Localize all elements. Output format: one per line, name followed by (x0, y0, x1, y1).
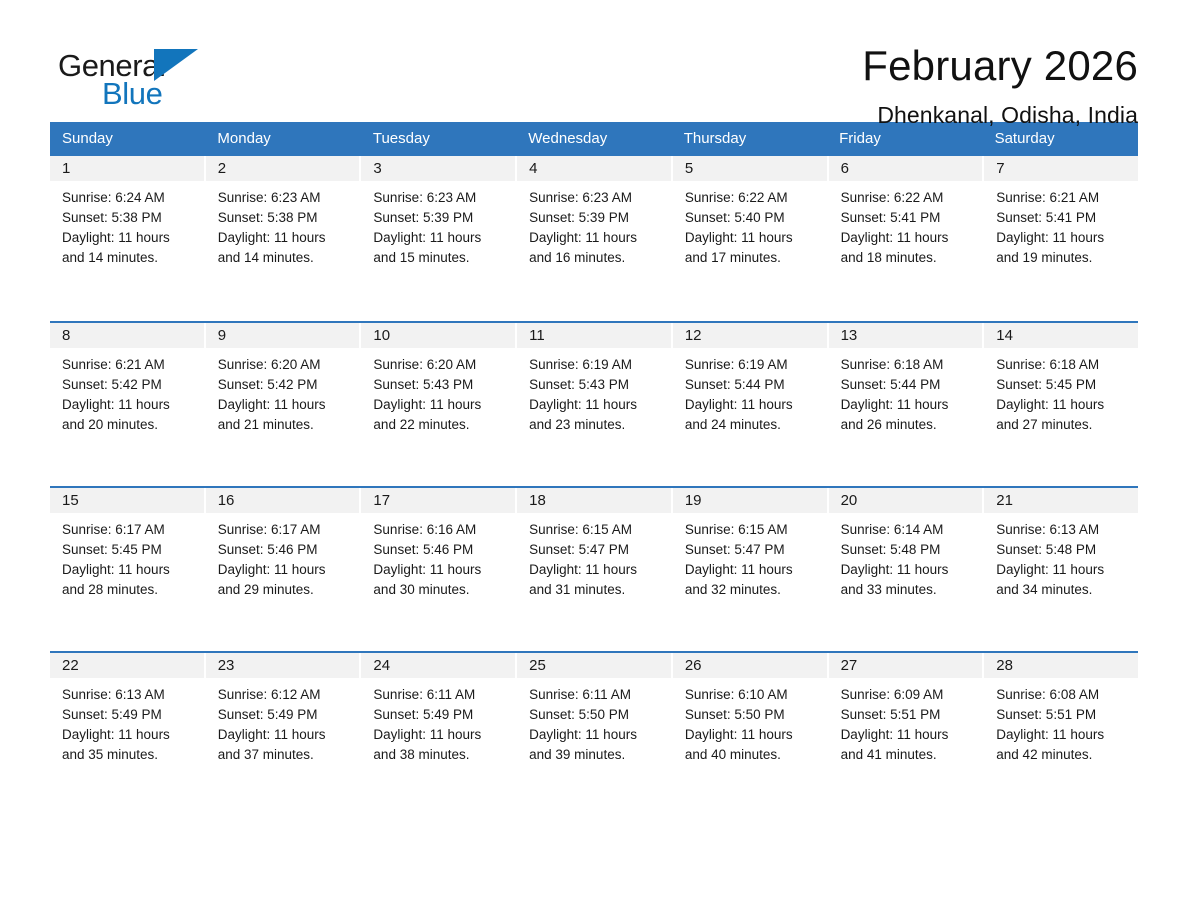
day-cell[interactable]: 23 Sunrise: 6:12 AM Sunset: 5:49 PM Dayl… (206, 653, 360, 815)
daylight-text: Daylight: 11 hours and 19 minutes. (996, 228, 1128, 268)
day-number: 27 (829, 653, 983, 678)
day-number: 25 (517, 653, 671, 678)
sunset-text: Sunset: 5:45 PM (996, 375, 1128, 395)
week-row: 8 Sunrise: 6:21 AM Sunset: 5:42 PM Dayli… (50, 321, 1138, 485)
sunset-text: Sunset: 5:51 PM (996, 705, 1128, 725)
day-cell[interactable]: 14 Sunrise: 6:18 AM Sunset: 5:45 PM Dayl… (984, 323, 1138, 485)
sunrise-text: Sunrise: 6:14 AM (841, 520, 973, 540)
day-number: 1 (50, 156, 204, 181)
daylight-text: Daylight: 11 hours and 14 minutes. (218, 228, 350, 268)
sunrise-text: Sunrise: 6:19 AM (685, 355, 817, 375)
daylight-text: Daylight: 11 hours and 26 minutes. (841, 395, 973, 435)
weekday-header-sunday: Sunday (50, 122, 205, 156)
day-number: 26 (673, 653, 827, 678)
sunrise-text: Sunrise: 6:19 AM (529, 355, 661, 375)
day-cell[interactable]: 1 Sunrise: 6:24 AM Sunset: 5:38 PM Dayli… (50, 156, 204, 320)
sunset-text: Sunset: 5:45 PM (62, 540, 194, 560)
day-number: 28 (984, 653, 1138, 678)
day-details: Sunrise: 6:14 AM Sunset: 5:48 PM Dayligh… (829, 513, 983, 600)
day-number: 17 (361, 488, 515, 513)
sunrise-text: Sunrise: 6:17 AM (218, 520, 350, 540)
sunset-text: Sunset: 5:42 PM (218, 375, 350, 395)
sunrise-text: Sunrise: 6:22 AM (841, 188, 973, 208)
sunrise-text: Sunrise: 6:10 AM (685, 685, 817, 705)
day-details: Sunrise: 6:13 AM Sunset: 5:49 PM Dayligh… (50, 678, 204, 765)
general-blue-logo[interactable]: General Blue (50, 42, 210, 112)
day-number: 21 (984, 488, 1138, 513)
day-number: 11 (517, 323, 671, 348)
logo-text-blue: Blue (102, 78, 162, 109)
daylight-text: Daylight: 11 hours and 20 minutes. (62, 395, 194, 435)
daylight-text: Daylight: 11 hours and 15 minutes. (373, 228, 505, 268)
daylight-text: Daylight: 11 hours and 21 minutes. (218, 395, 350, 435)
daylight-text: Daylight: 11 hours and 35 minutes. (62, 725, 194, 765)
sunset-text: Sunset: 5:38 PM (218, 208, 350, 228)
day-details: Sunrise: 6:20 AM Sunset: 5:43 PM Dayligh… (361, 348, 515, 435)
day-details: Sunrise: 6:23 AM Sunset: 5:39 PM Dayligh… (361, 181, 515, 268)
daylight-text: Daylight: 11 hours and 31 minutes. (529, 560, 661, 600)
daylight-text: Daylight: 11 hours and 14 minutes. (62, 228, 194, 268)
daylight-text: Daylight: 11 hours and 37 minutes. (218, 725, 350, 765)
day-cell[interactable]: 6 Sunrise: 6:22 AM Sunset: 5:41 PM Dayli… (829, 156, 983, 320)
sunset-text: Sunset: 5:51 PM (841, 705, 973, 725)
day-number: 12 (673, 323, 827, 348)
day-cell[interactable]: 5 Sunrise: 6:22 AM Sunset: 5:40 PM Dayli… (673, 156, 827, 320)
daylight-text: Daylight: 11 hours and 16 minutes. (529, 228, 661, 268)
sunset-text: Sunset: 5:39 PM (373, 208, 505, 228)
sunset-text: Sunset: 5:46 PM (218, 540, 350, 560)
day-cell[interactable]: 10 Sunrise: 6:20 AM Sunset: 5:43 PM Dayl… (361, 323, 515, 485)
sunset-text: Sunset: 5:46 PM (373, 540, 505, 560)
sunrise-text: Sunrise: 6:23 AM (218, 188, 350, 208)
sunset-text: Sunset: 5:44 PM (841, 375, 973, 395)
sunset-text: Sunset: 5:49 PM (373, 705, 505, 725)
sunset-text: Sunset: 5:49 PM (62, 705, 194, 725)
daylight-text: Daylight: 11 hours and 23 minutes. (529, 395, 661, 435)
sunset-text: Sunset: 5:48 PM (996, 540, 1128, 560)
weekday-header-thursday: Thursday (672, 122, 827, 156)
day-details: Sunrise: 6:11 AM Sunset: 5:49 PM Dayligh… (361, 678, 515, 765)
sunset-text: Sunset: 5:43 PM (529, 375, 661, 395)
day-cell[interactable]: 13 Sunrise: 6:18 AM Sunset: 5:44 PM Dayl… (829, 323, 983, 485)
sunrise-text: Sunrise: 6:11 AM (529, 685, 661, 705)
sunrise-text: Sunrise: 6:18 AM (996, 355, 1128, 375)
day-number: 13 (829, 323, 983, 348)
day-details: Sunrise: 6:21 AM Sunset: 5:42 PM Dayligh… (50, 348, 204, 435)
day-details: Sunrise: 6:15 AM Sunset: 5:47 PM Dayligh… (517, 513, 671, 600)
weekday-header-friday: Friday (827, 122, 982, 156)
day-number: 14 (984, 323, 1138, 348)
day-number: 23 (206, 653, 360, 678)
daylight-text: Daylight: 11 hours and 28 minutes. (62, 560, 194, 600)
day-cell[interactable]: 11 Sunrise: 6:19 AM Sunset: 5:43 PM Dayl… (517, 323, 671, 485)
day-cell[interactable]: 3 Sunrise: 6:23 AM Sunset: 5:39 PM Dayli… (361, 156, 515, 320)
sunrise-text: Sunrise: 6:16 AM (373, 520, 505, 540)
daylight-text: Daylight: 11 hours and 27 minutes. (996, 395, 1128, 435)
day-number: 8 (50, 323, 204, 348)
sunrise-text: Sunrise: 6:08 AM (996, 685, 1128, 705)
day-cell[interactable]: 26 Sunrise: 6:10 AM Sunset: 5:50 PM Dayl… (673, 653, 827, 815)
sunset-text: Sunset: 5:41 PM (841, 208, 973, 228)
day-cell[interactable]: 22 Sunrise: 6:13 AM Sunset: 5:49 PM Dayl… (50, 653, 204, 815)
sunrise-text: Sunrise: 6:15 AM (529, 520, 661, 540)
daylight-text: Daylight: 11 hours and 24 minutes. (685, 395, 817, 435)
week-row: 22 Sunrise: 6:13 AM Sunset: 5:49 PM Dayl… (50, 651, 1138, 815)
day-details: Sunrise: 6:18 AM Sunset: 5:44 PM Dayligh… (829, 348, 983, 435)
daylight-text: Daylight: 11 hours and 30 minutes. (373, 560, 505, 600)
calendar-grid: Sunday Monday Tuesday Wednesday Thursday… (50, 122, 1138, 815)
daylight-text: Daylight: 11 hours and 40 minutes. (685, 725, 817, 765)
day-details: Sunrise: 6:23 AM Sunset: 5:38 PM Dayligh… (206, 181, 360, 268)
daylight-text: Daylight: 11 hours and 34 minutes. (996, 560, 1128, 600)
day-cell[interactable]: 17 Sunrise: 6:16 AM Sunset: 5:46 PM Dayl… (361, 488, 515, 650)
sunrise-text: Sunrise: 6:21 AM (62, 355, 194, 375)
sunset-text: Sunset: 5:40 PM (685, 208, 817, 228)
weekday-header-monday: Monday (205, 122, 360, 156)
day-number: 18 (517, 488, 671, 513)
weekday-header-saturday: Saturday (983, 122, 1138, 156)
day-details: Sunrise: 6:09 AM Sunset: 5:51 PM Dayligh… (829, 678, 983, 765)
daylight-text: Daylight: 11 hours and 22 minutes. (373, 395, 505, 435)
title-block: February 2026 Dhenkanal, Odisha, India (862, 42, 1138, 129)
day-number: 6 (829, 156, 983, 181)
daylight-text: Daylight: 11 hours and 33 minutes. (841, 560, 973, 600)
day-cell[interactable]: 8 Sunrise: 6:21 AM Sunset: 5:42 PM Dayli… (50, 323, 204, 485)
day-number: 7 (984, 156, 1138, 181)
day-details: Sunrise: 6:21 AM Sunset: 5:41 PM Dayligh… (984, 181, 1138, 268)
day-details: Sunrise: 6:16 AM Sunset: 5:46 PM Dayligh… (361, 513, 515, 600)
day-details: Sunrise: 6:08 AM Sunset: 5:51 PM Dayligh… (984, 678, 1138, 765)
day-number: 2 (206, 156, 360, 181)
day-details: Sunrise: 6:11 AM Sunset: 5:50 PM Dayligh… (517, 678, 671, 765)
day-cell[interactable]: 12 Sunrise: 6:19 AM Sunset: 5:44 PM Dayl… (673, 323, 827, 485)
day-cell[interactable]: 25 Sunrise: 6:11 AM Sunset: 5:50 PM Dayl… (517, 653, 671, 815)
sunrise-text: Sunrise: 6:21 AM (996, 188, 1128, 208)
day-cell[interactable]: 9 Sunrise: 6:20 AM Sunset: 5:42 PM Dayli… (206, 323, 360, 485)
day-details: Sunrise: 6:20 AM Sunset: 5:42 PM Dayligh… (206, 348, 360, 435)
day-details: Sunrise: 6:17 AM Sunset: 5:45 PM Dayligh… (50, 513, 204, 600)
day-cell[interactable]: 16 Sunrise: 6:17 AM Sunset: 5:46 PM Dayl… (206, 488, 360, 650)
daylight-text: Daylight: 11 hours and 38 minutes. (373, 725, 505, 765)
sunset-text: Sunset: 5:38 PM (62, 208, 194, 228)
day-details: Sunrise: 6:12 AM Sunset: 5:49 PM Dayligh… (206, 678, 360, 765)
sunrise-text: Sunrise: 6:15 AM (685, 520, 817, 540)
sunset-text: Sunset: 5:49 PM (218, 705, 350, 725)
daylight-text: Daylight: 11 hours and 32 minutes. (685, 560, 817, 600)
sunset-text: Sunset: 5:43 PM (373, 375, 505, 395)
sunrise-text: Sunrise: 6:18 AM (841, 355, 973, 375)
day-cell[interactable]: 7 Sunrise: 6:21 AM Sunset: 5:41 PM Dayli… (984, 156, 1138, 320)
sunset-text: Sunset: 5:50 PM (685, 705, 817, 725)
day-number: 19 (673, 488, 827, 513)
day-cell[interactable]: 2 Sunrise: 6:23 AM Sunset: 5:38 PM Dayli… (206, 156, 360, 320)
sunrise-text: Sunrise: 6:09 AM (841, 685, 973, 705)
day-number: 5 (673, 156, 827, 181)
day-cell[interactable]: 24 Sunrise: 6:11 AM Sunset: 5:49 PM Dayl… (361, 653, 515, 815)
sunrise-text: Sunrise: 6:20 AM (218, 355, 350, 375)
daylight-text: Daylight: 11 hours and 41 minutes. (841, 725, 973, 765)
day-cell[interactable]: 20 Sunrise: 6:14 AM Sunset: 5:48 PM Dayl… (829, 488, 983, 650)
day-cell[interactable]: 18 Sunrise: 6:15 AM Sunset: 5:47 PM Dayl… (517, 488, 671, 650)
day-details: Sunrise: 6:18 AM Sunset: 5:45 PM Dayligh… (984, 348, 1138, 435)
daylight-text: Daylight: 11 hours and 18 minutes. (841, 228, 973, 268)
sunrise-text: Sunrise: 6:20 AM (373, 355, 505, 375)
day-number: 4 (517, 156, 671, 181)
page-header: General Blue February 2026 Dhenkanal, Od… (50, 0, 1138, 104)
sunset-text: Sunset: 5:41 PM (996, 208, 1128, 228)
day-details: Sunrise: 6:17 AM Sunset: 5:46 PM Dayligh… (206, 513, 360, 600)
sunset-text: Sunset: 5:39 PM (529, 208, 661, 228)
daylight-text: Daylight: 11 hours and 39 minutes. (529, 725, 661, 765)
sunrise-text: Sunrise: 6:13 AM (62, 685, 194, 705)
day-details: Sunrise: 6:15 AM Sunset: 5:47 PM Dayligh… (673, 513, 827, 600)
daylight-text: Daylight: 11 hours and 17 minutes. (685, 228, 817, 268)
day-number: 10 (361, 323, 515, 348)
daylight-text: Daylight: 11 hours and 29 minutes. (218, 560, 350, 600)
sunset-text: Sunset: 5:47 PM (685, 540, 817, 560)
day-details: Sunrise: 6:22 AM Sunset: 5:40 PM Dayligh… (673, 181, 827, 268)
day-number: 22 (50, 653, 204, 678)
day-details: Sunrise: 6:19 AM Sunset: 5:44 PM Dayligh… (673, 348, 827, 435)
day-details: Sunrise: 6:19 AM Sunset: 5:43 PM Dayligh… (517, 348, 671, 435)
day-cell[interactable]: 15 Sunrise: 6:17 AM Sunset: 5:45 PM Dayl… (50, 488, 204, 650)
daylight-text: Daylight: 11 hours and 42 minutes. (996, 725, 1128, 765)
sunset-text: Sunset: 5:50 PM (529, 705, 661, 725)
day-number: 16 (206, 488, 360, 513)
sunrise-text: Sunrise: 6:22 AM (685, 188, 817, 208)
sunrise-text: Sunrise: 6:23 AM (373, 188, 505, 208)
sunset-text: Sunset: 5:44 PM (685, 375, 817, 395)
day-cell[interactable]: 28 Sunrise: 6:08 AM Sunset: 5:51 PM Dayl… (984, 653, 1138, 815)
day-details: Sunrise: 6:22 AM Sunset: 5:41 PM Dayligh… (829, 181, 983, 268)
day-number: 9 (206, 323, 360, 348)
day-details: Sunrise: 6:23 AM Sunset: 5:39 PM Dayligh… (517, 181, 671, 268)
day-cell[interactable]: 4 Sunrise: 6:23 AM Sunset: 5:39 PM Dayli… (517, 156, 671, 320)
day-number: 3 (361, 156, 515, 181)
sunrise-text: Sunrise: 6:23 AM (529, 188, 661, 208)
sunset-text: Sunset: 5:47 PM (529, 540, 661, 560)
week-row: 15 Sunrise: 6:17 AM Sunset: 5:45 PM Dayl… (50, 486, 1138, 650)
day-number: 24 (361, 653, 515, 678)
day-number: 20 (829, 488, 983, 513)
sunrise-text: Sunrise: 6:17 AM (62, 520, 194, 540)
calendar-page: General Blue February 2026 Dhenkanal, Od… (0, 0, 1188, 918)
page-title: February 2026 (862, 44, 1138, 88)
weekday-header-row: Sunday Monday Tuesday Wednesday Thursday… (50, 122, 1138, 156)
day-details: Sunrise: 6:24 AM Sunset: 5:38 PM Dayligh… (50, 181, 204, 268)
sunrise-text: Sunrise: 6:11 AM (373, 685, 505, 705)
day-cell[interactable]: 19 Sunrise: 6:15 AM Sunset: 5:47 PM Dayl… (673, 488, 827, 650)
sunrise-text: Sunrise: 6:12 AM (218, 685, 350, 705)
sunset-text: Sunset: 5:42 PM (62, 375, 194, 395)
sunrise-text: Sunrise: 6:24 AM (62, 188, 194, 208)
sunrise-text: Sunrise: 6:13 AM (996, 520, 1128, 540)
day-details: Sunrise: 6:13 AM Sunset: 5:48 PM Dayligh… (984, 513, 1138, 600)
sunset-text: Sunset: 5:48 PM (841, 540, 973, 560)
day-cell[interactable]: 21 Sunrise: 6:13 AM Sunset: 5:48 PM Dayl… (984, 488, 1138, 650)
day-number: 15 (50, 488, 204, 513)
day-details: Sunrise: 6:10 AM Sunset: 5:50 PM Dayligh… (673, 678, 827, 765)
weekday-header-tuesday: Tuesday (361, 122, 516, 156)
weekday-header-wednesday: Wednesday (516, 122, 671, 156)
day-cell[interactable]: 27 Sunrise: 6:09 AM Sunset: 5:51 PM Dayl… (829, 653, 983, 815)
week-row: 1 Sunrise: 6:24 AM Sunset: 5:38 PM Dayli… (50, 156, 1138, 320)
